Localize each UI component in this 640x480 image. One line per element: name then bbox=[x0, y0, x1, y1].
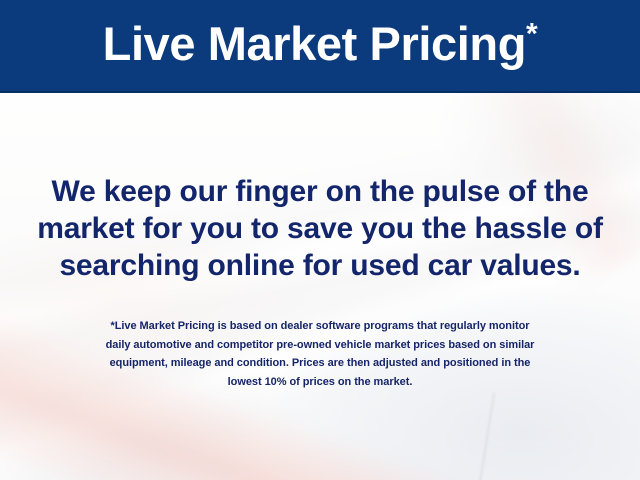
page-title: Live Market Pricing* bbox=[103, 20, 538, 71]
headline-line: We keep our finger on the pulse of the bbox=[20, 173, 620, 210]
content-area: We keep our finger on the pulse of the m… bbox=[0, 93, 640, 480]
disclaimer-line: daily automotive and competitor pre-owne… bbox=[24, 336, 616, 355]
page-title-asterisk: * bbox=[526, 17, 537, 50]
disclaimer-line: *Live Market Pricing is based on dealer … bbox=[24, 317, 616, 336]
headline-text: We keep our finger on the pulse of the m… bbox=[20, 173, 620, 284]
page-title-text: Live Market Pricing bbox=[103, 17, 526, 70]
disclaimer-line: lowest 10% of prices on the market. bbox=[24, 373, 616, 392]
disclaimer-line: equipment, mileage and condition. Prices… bbox=[24, 354, 616, 373]
headline-line: searching online for used car values. bbox=[20, 247, 620, 284]
live-market-pricing-promo-card: Live Market Pricing* We keep our finger … bbox=[0, 0, 640, 480]
header-banner: Live Market Pricing* bbox=[0, 0, 640, 93]
disclaimer-text: *Live Market Pricing is based on dealer … bbox=[24, 317, 616, 391]
headline-line: market for you to save you the hassle of bbox=[20, 210, 620, 247]
